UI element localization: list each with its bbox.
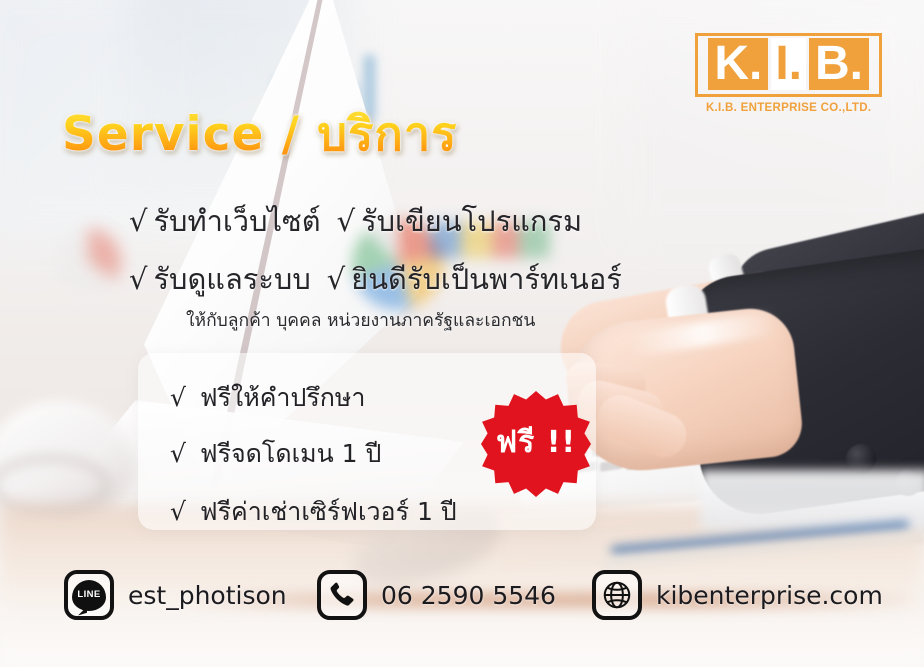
- company-logo: K. I. B. K.I.B. ENTERPRISE CO.,LTD.: [695, 33, 882, 114]
- check-icon: √: [327, 262, 345, 296]
- check-icon: √: [337, 204, 355, 238]
- service-item-partner: ยินดีรับเป็นพาร์ทเนอร์: [351, 262, 622, 296]
- service-line-2: √รับดูแลระบบ√ยินดีรับเป็นพาร์ทเนอร์: [129, 256, 622, 302]
- offer-item-server: √ ฟรีค่าเช่าเซิร์ฟเวอร์ 1 ปี: [170, 492, 457, 532]
- logo-subtitle: K.I.B. ENTERPRISE CO.,LTD.: [695, 102, 882, 114]
- banner-content: K. I. B. K.I.B. ENTERPRISE CO.,LTD. Serv…: [0, 0, 924, 667]
- contact-line-value: est_photison: [128, 581, 287, 610]
- service-line-1: √รับทำเว็บไซต์√รับเขียนโปรแกรม: [129, 198, 582, 244]
- check-icon: √: [170, 439, 186, 468]
- logo-letter-b: B.: [809, 38, 869, 90]
- check-icon: √: [129, 204, 147, 238]
- check-icon: √: [170, 497, 186, 526]
- service-banner: K. I. B. K.I.B. ENTERPRISE CO.,LTD. Serv…: [0, 0, 924, 667]
- contact-line[interactable]: LINE est_photison: [64, 570, 287, 620]
- contact-phone[interactable]: 06 2590 5546: [317, 570, 556, 620]
- phone-icon: [317, 570, 367, 620]
- offer-item-label: ฟรีจดโดเมน 1 ปี: [200, 439, 381, 468]
- contact-phone-value: 06 2590 5546: [381, 581, 556, 610]
- logo-letters: K. I. B.: [708, 38, 869, 90]
- service-item-program: รับเขียนโปรแกรม: [361, 204, 582, 238]
- contact-website[interactable]: kibenterprise.com: [592, 570, 883, 620]
- free-badge-label: ฟรี !!: [481, 391, 591, 497]
- contact-website-value: kibenterprise.com: [656, 581, 883, 610]
- offer-item-label: ฟรีค่าเช่าเซิร์ฟเวอร์ 1 ปี: [200, 497, 457, 526]
- logo-letter-i: I.: [771, 38, 806, 90]
- line-icon-label: LINE: [77, 589, 100, 600]
- offer-item-label: ฟรีให้คำปรึกษา: [200, 383, 366, 412]
- check-icon: √: [129, 262, 147, 296]
- service-item-maintenance: รับดูแลระบบ: [153, 262, 310, 296]
- offer-item-consult: √ ฟรีให้คำปรึกษา: [170, 378, 365, 418]
- line-bubble-shape: LINE: [72, 580, 106, 611]
- logo-letter-k: K.: [708, 38, 768, 90]
- check-icon: √: [170, 383, 186, 412]
- line-icon: LINE: [64, 570, 114, 620]
- globe-icon: [592, 570, 642, 620]
- logo-box: K. I. B.: [695, 33, 882, 97]
- service-item-website: รับทำเว็บไซต์: [153, 204, 320, 238]
- page-title: Service / บริการ: [62, 96, 457, 171]
- service-subtitle: ให้กับลูกค้า บุคคล หน่วยงานภาครัฐและเอกช…: [186, 306, 535, 334]
- offer-item-domain: √ ฟรีจดโดเมน 1 ปี: [170, 434, 381, 474]
